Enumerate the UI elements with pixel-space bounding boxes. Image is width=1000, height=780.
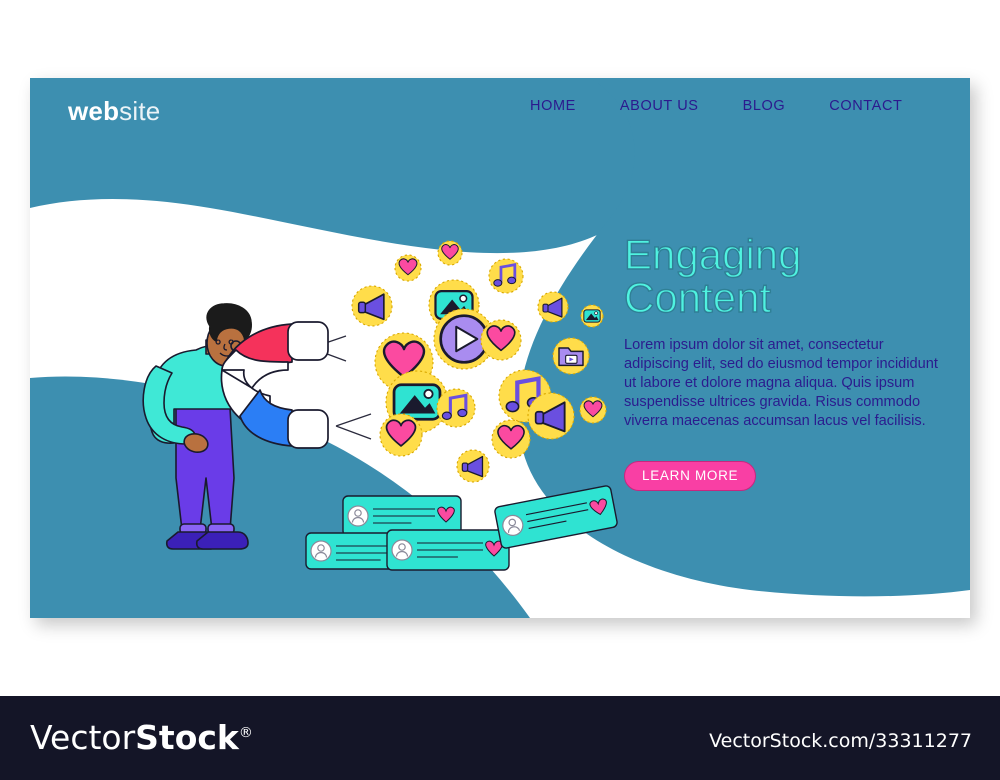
learn-more-button[interactable]: LEARN MORE bbox=[624, 461, 756, 491]
vectorstock-logo-thin: Vector bbox=[30, 718, 135, 757]
nav-item-about-us[interactable]: ABOUT US bbox=[620, 98, 699, 114]
vectorstock-url: VectorStock.com/33311277 bbox=[709, 730, 972, 752]
logo-bold-part: web bbox=[68, 96, 119, 126]
vectorstock-logo: VectorStock® bbox=[30, 718, 253, 757]
nav-item-blog[interactable]: BLOG bbox=[743, 98, 786, 114]
main-navigation: HOME ABOUT US BLOG CONTACT bbox=[530, 98, 902, 114]
page-title: Engaging Content bbox=[624, 234, 954, 320]
logo-light-part: site bbox=[119, 96, 160, 126]
vectorstock-logo-bold: Stock bbox=[135, 718, 239, 757]
screenshot-stage: website HOME ABOUT US BLOG CONTACT bbox=[0, 0, 1000, 780]
watermark-footer: VectorStock® VectorStock.com/33311277 bbox=[0, 696, 1000, 780]
nav-item-contact[interactable]: CONTACT bbox=[829, 98, 902, 114]
nav-item-home[interactable]: HOME bbox=[530, 98, 576, 114]
landing-page-frame: website HOME ABOUT US BLOG CONTACT bbox=[30, 78, 970, 618]
site-logo[interactable]: website bbox=[68, 96, 160, 127]
registered-mark-icon: ® bbox=[239, 725, 253, 741]
hero-copy-column: Engaging Content Lorem ipsum dolor sit a… bbox=[624, 234, 954, 491]
hero-body-text: Lorem ipsum dolor sit amet, consectetur … bbox=[624, 336, 942, 431]
